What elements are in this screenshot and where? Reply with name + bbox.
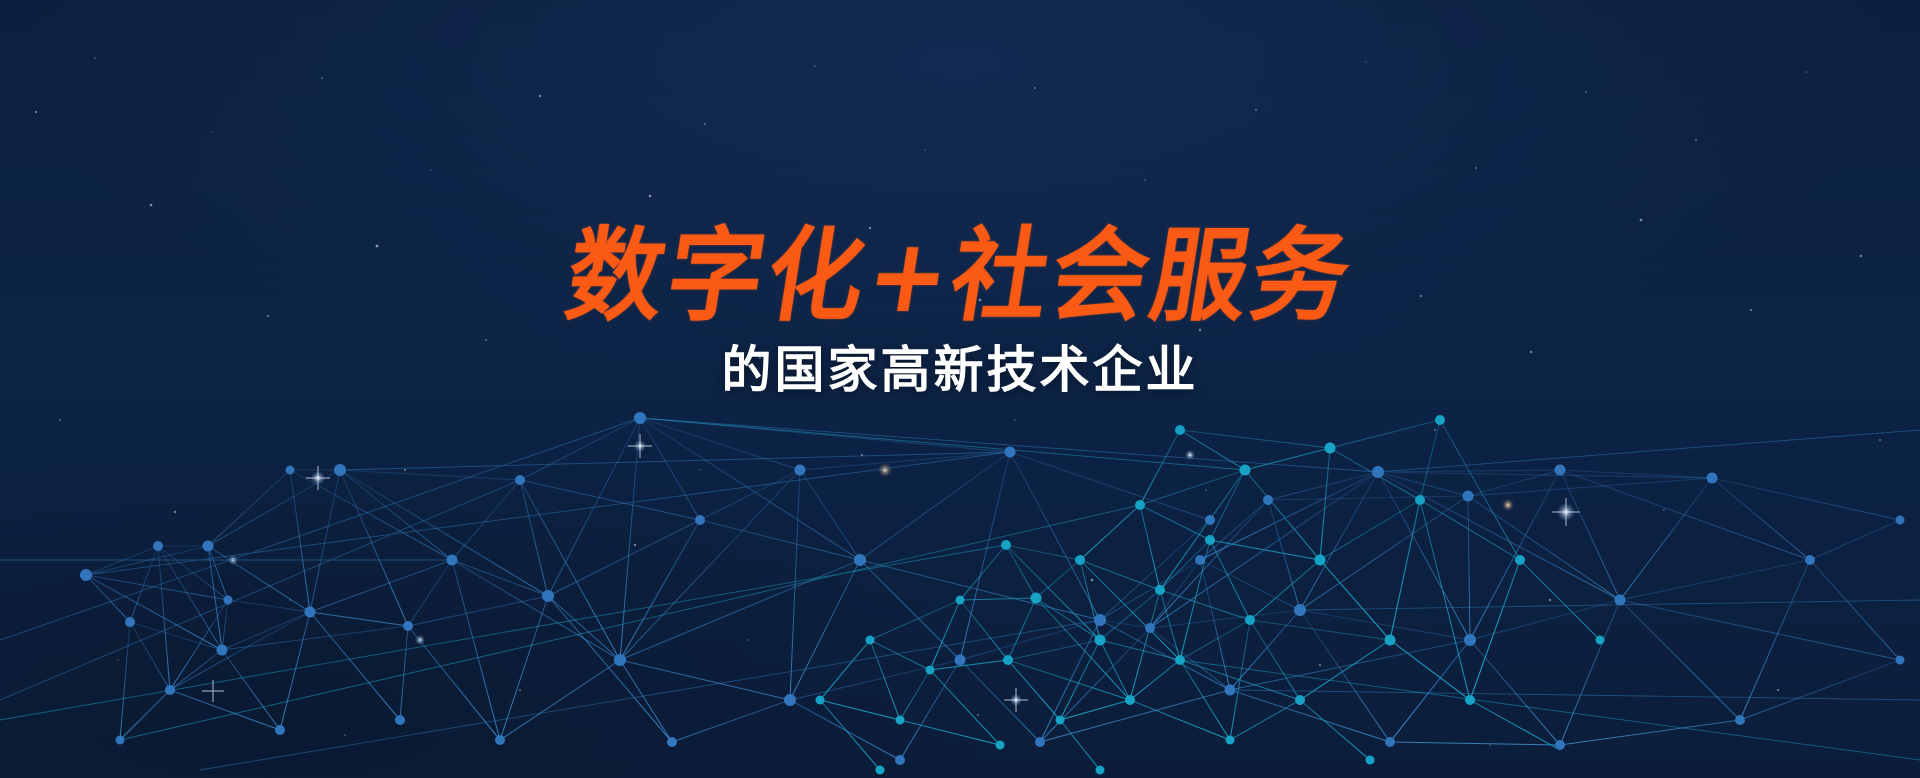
star-particle-field <box>0 0 1920 778</box>
hero-banner: 数字化+社会服务 的国家高新技术企业 <box>0 0 1920 778</box>
